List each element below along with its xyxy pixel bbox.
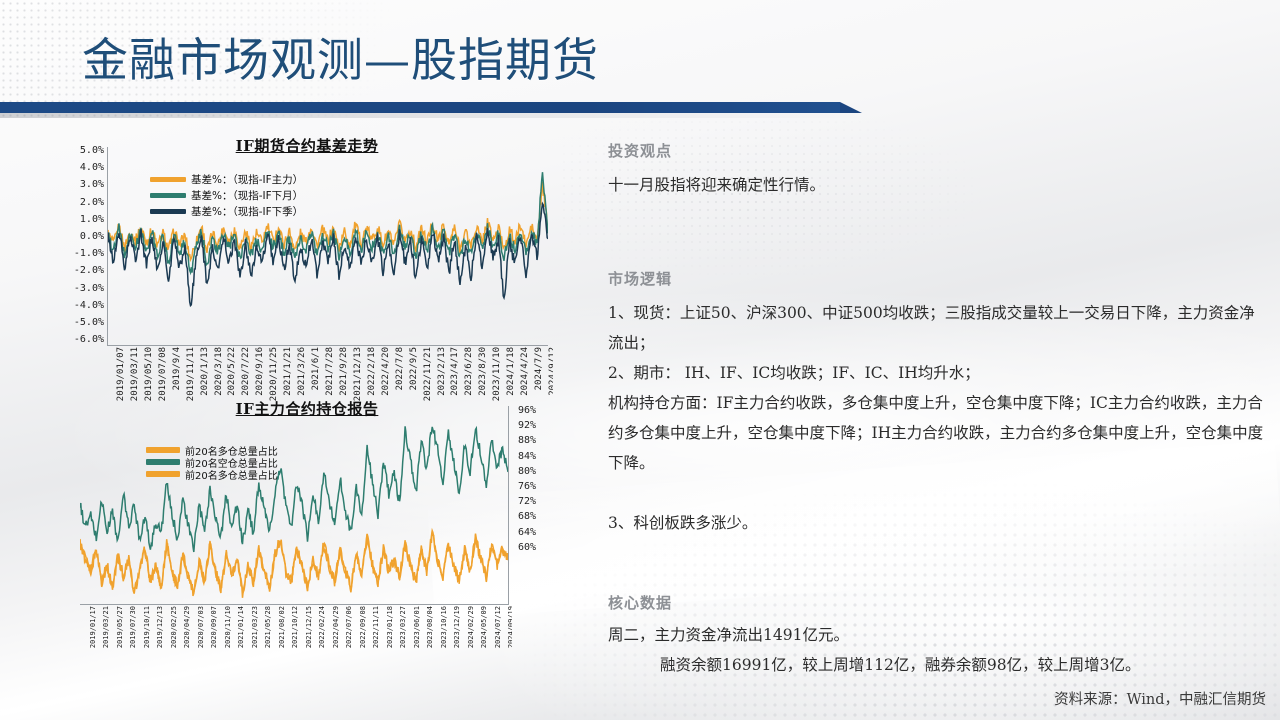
chart1-xtick-27: 2023/11/10 [492,347,502,401]
chart1-ytick-7: -2.0% [58,262,104,279]
chart1-xtick-19: 2022/4/20 [381,347,391,396]
chart1-legend-item: 基差%：（现指-IF主力） [150,171,303,187]
chart1-xtick-9: 2020/7/22 [241,347,251,396]
legend-swatch-icon [146,459,180,465]
chart2-legend-item: 前20名多仓总量占比 [146,468,278,480]
chart1-xtick-12: 2021/1/21 [283,347,293,396]
market-logic-item-1: 1、现货：上证50、沪深300、中证500均收跌；三股指成交量较上一交易日下降，… [608,298,1264,358]
chart1-legend-item: 基差%：（现指-IF下季） [150,203,303,219]
chart2-xtick-12: 2021/03/23 [251,606,259,648]
chart2-plot-area [80,406,509,605]
chart2-y-axis-labels: 96%92%88%84%80%76%72%68%64%60% [510,403,554,555]
chart1-xtick-2: 2019/05/10 [144,347,154,401]
market-logic-item-3: 3、科创板跌多涨少。 [608,508,1264,538]
chart2-xtick-2: 2019/05/27 [116,606,124,648]
chart2-xtick-30: 2024/07/12 [494,606,502,648]
chart1-xtick-10: 2020/9/16 [255,347,265,396]
chart2-ytick-1: 92% [510,418,554,433]
section-heading-investment-view: 投资观点 [608,140,672,161]
market-logic-item-2: 2、期市： IH、IF、IC均收跌；IF、IC、IH均升水； [608,358,1264,388]
header-accent-shadow [0,113,862,118]
chart2-ytick-5: 76% [510,479,554,494]
legend-label: 前20名多仓总量占比 [185,467,278,482]
chart2-xtick-26: 2023/10/16 [440,606,448,648]
chart1-ytick-5: 0.0% [58,228,104,245]
chart2-xtick-29: 2024/05/09 [480,606,488,648]
chart2-xtick-14: 2021/08/02 [278,606,286,648]
series-line [80,426,508,552]
chart1-xtick-31: 2024/9/12 [548,347,553,396]
chart1-ytick-4: 1.0% [58,211,104,228]
chart2-xtick-11: 2021/01/14 [237,606,245,648]
chart2-xtick-3: 2019/07/30 [129,606,137,648]
chart1-y-axis-labels: 5.0%4.0%3.0%2.0%1.0%0.0%-1.0%-2.0%-3.0%-… [58,142,104,348]
chart1-xtick-24: 2023/4/17 [450,347,460,396]
chart1-xtick-28: 2024/1/18 [506,347,516,396]
investment-view-text: 十一月股指将迎来确定性行情。 [608,170,825,200]
source-note: 资料来源：Wind，中融汇信期货 [1054,688,1266,709]
chart2-xtick-17: 2022/02/24 [318,606,326,648]
chart-if-position-report: IF主力合约持仓报告 96%92%88%84%80%76%72%68%64%60… [58,396,556,674]
chart2-xtick-4: 2019/10/11 [143,606,151,648]
chart2-legend: 前20名多仓总量占比前20名空仓总量占比前20名多仓总量占比 [146,444,278,480]
chart1-xtick-30: 2024/7/9 [534,347,544,390]
chart1-ytick-6: -1.0% [58,245,104,262]
chart2-ytick-8: 64% [510,525,554,540]
header-accent-bar [0,102,840,113]
chart1-ytick-1: 4.0% [58,159,104,176]
chart2-xtick-19: 2022/07/06 [345,606,353,648]
chart1-xtick-4: 2019/9/4 [172,347,182,390]
chart2-ytick-0: 96% [510,403,554,418]
chart2-xtick-7: 2020/04/29 [183,606,191,648]
chart1-xtick-15: 2021/7/28 [325,347,335,396]
legend-swatch-icon [146,471,180,477]
legend-swatch-icon [150,193,186,198]
chart1-xtick-14: 2021/6/1 [311,347,321,390]
core-data-line-2: 融资余额16991亿，较上周增112亿，融券余额98亿，较上周增3亿。 [660,650,1140,680]
chart1-xtick-0: 2019/01/07 [116,347,126,401]
legend-label: 基差%：（现指-IF下月） [191,188,303,203]
chart1-xtick-18: 2022/2/18 [367,347,377,396]
chart2-xtick-24: 2023/06/01 [413,606,421,648]
chart1-xtick-5: 2019/11/11 [186,347,196,401]
commentary-panel: 投资观点 十一月股指将迎来确定性行情。 市场逻辑 1、现货：上证50、沪深300… [608,140,1268,710]
c2-plot-lines [80,406,508,604]
chart2-ytick-7: 68% [510,509,554,524]
chart2-xtick-22: 2023/01/18 [386,606,394,648]
chart1-xtick-20: 2022/7/8 [395,347,405,390]
chart1-ytick-10: -5.0% [58,314,104,331]
chart1-xtick-7: 2020/3/18 [214,347,224,396]
chart2-xtick-20: 2022/09/08 [359,606,367,648]
chart2-xtick-27: 2023/12/19 [453,606,461,648]
chart1-xtick-26: 2023/8/30 [478,347,488,396]
chart1-xtick-23: 2023/2/13 [437,347,447,396]
chart2-xtick-6: 2020/02/25 [170,606,178,648]
chart1-xtick-22: 2022/11/21 [423,347,433,401]
chart2-xtick-21: 2022/11/11 [372,606,380,648]
chart2-xtick-0: 2019/01/17 [89,606,97,648]
chart1-ytick-8: -3.0% [58,280,104,297]
core-data-line-1: 周二，主力资金净流出1491亿元。 [608,620,849,650]
chart1-xtick-16: 2021/9/28 [339,347,349,396]
chart1-ytick-9: -4.0% [58,297,104,314]
chart2-xtick-15: 2021/10/12 [291,606,299,648]
chart1-legend: 基差%：（现指-IF主力）基差%：（现指-IF下月）基差%：（现指-IF下季） [150,171,303,219]
page-title: 金融市场观测—股指期货 [82,32,599,88]
chart1-xtick-13: 2021/3/26 [297,347,307,396]
chart2-ytick-4: 80% [510,464,554,479]
chart1-xtick-17: 2021/12/13 [353,347,363,401]
chart2-xtick-13: 2021/05/28 [264,606,272,648]
legend-label: 基差%：（现指-IF下季） [191,204,303,219]
chart1-xtick-1: 2019/03/11 [130,347,140,401]
chart1-xtick-21: 2022/9/5 [409,347,419,390]
chart1-ytick-2: 3.0% [58,176,104,193]
chart1-ytick-11: -6.0% [58,331,104,348]
chart2-ytick-9: 60% [510,540,554,555]
chart1-xtick-6: 2020/1/13 [200,347,210,396]
chart1-xtick-11: 2020/11/25 [269,347,279,401]
slide-canvas: 金融市场观测—股指期货 IF期货合约基差走势 5.0%4.0%3.0%2.0%1… [0,0,1280,720]
chart2-xtick-31: 2024/09/19 [507,606,512,648]
chart1-ytick-0: 5.0% [58,142,104,159]
chart1-xtick-25: 2023/6/28 [464,347,474,396]
chart1-xtick-29: 2024/4/24 [520,347,530,396]
chart2-xtick-28: 2024/02/29 [467,606,475,648]
chart2-ytick-6: 72% [510,494,554,509]
chart1-xtick-3: 2019/07/08 [158,347,168,401]
chart2-xtick-23: 2023/03/27 [399,606,407,648]
legend-swatch-icon [150,177,186,182]
chart-if-basis-spread: IF期货合约基差走势 5.0%4.0%3.0%2.0%1.0%0.0%-1.0%… [58,133,556,395]
legend-swatch-icon [146,447,180,453]
section-heading-core-data: 核心数据 [608,592,672,613]
chart2-ytick-2: 88% [510,433,554,448]
chart2-xtick-18: 2022/04/29 [332,606,340,648]
chart1-legend-item: 基差%：（现指-IF下月） [150,187,303,203]
chart2-x-axis-labels: 2019/01/172019/03/212019/05/272019/07/30… [80,606,512,664]
chart2-xtick-9: 2020/09/07 [210,606,218,648]
section-heading-market-logic: 市场逻辑 [608,268,672,289]
chart2-xtick-10: 2020/11/10 [224,606,232,648]
chart2-xtick-16: 2021/12/15 [305,606,313,648]
chart2-xtick-5: 2019/12/13 [156,606,164,648]
chart2-xtick-25: 2023/08/04 [426,606,434,648]
legend-swatch-icon [150,209,186,214]
chart1-ytick-3: 2.0% [58,194,104,211]
legend-label: 基差%：（现指-IF主力） [191,172,303,187]
market-logic-institution-text: 机构持仓方面：IF主力合约收跌，多仓集中度上升，空仓集中度下降；IC主力合约收跌… [608,388,1264,478]
chart2-xtick-1: 2019/03/21 [102,606,110,648]
chart2-xtick-8: 2020/07/03 [197,606,205,648]
slide-header: 金融市场观测—股指期货 [0,0,1280,122]
chart1-xtick-8: 2020/5/22 [227,347,237,396]
chart2-ytick-3: 84% [510,449,554,464]
